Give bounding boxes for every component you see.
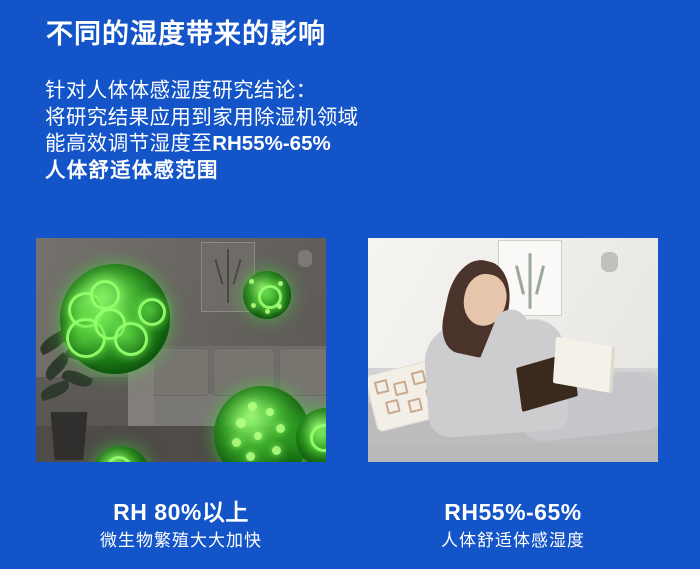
microbe-dot	[248, 402, 257, 411]
photo-panel-high-humidity	[36, 238, 326, 462]
floor	[368, 444, 658, 462]
microbe-dot	[249, 279, 254, 284]
caption-title: RH55%-65%	[368, 498, 658, 526]
microbe-cell	[114, 322, 148, 356]
dark-room-scene	[36, 238, 326, 462]
body-line-3: 能高效调节湿度至RH55%-65%	[45, 131, 475, 158]
body-line-3-highlight: RH55%-65%	[212, 132, 331, 155]
cactus-icon	[227, 249, 229, 303]
microbe-dot	[251, 303, 256, 308]
poster-root: 不同的湿度带来的影响 针对人体体感湿度研究结论： 将研究结果应用到家用除湿机领域…	[0, 0, 700, 569]
body-line-2: 将研究结果应用到家用除湿机领域	[45, 105, 475, 132]
leaf-icon	[39, 380, 72, 402]
microbe-dot	[272, 446, 281, 455]
photo-panel-comfort-humidity	[368, 238, 658, 462]
sofa-cushion	[279, 348, 326, 396]
microbe-sphere-large	[60, 264, 170, 374]
microbe-dot	[277, 304, 282, 309]
microbe-dot	[278, 281, 283, 286]
microbe-dot	[266, 408, 274, 416]
plant-pot	[48, 412, 90, 460]
microbe-cell	[90, 280, 120, 310]
page-title: 不同的湿度带来的影响	[46, 18, 326, 52]
microbe-cell	[138, 298, 166, 326]
microbe-dot	[246, 452, 255, 461]
caption-title: RH 80%以上	[36, 498, 326, 526]
microbe-sphere-medium	[243, 271, 291, 319]
caption-high-humidity: RH 80%以上 微生物繁殖大大加快	[36, 498, 326, 553]
wall-knob-icon	[601, 252, 618, 272]
body-line-1: 针对人体体感湿度研究结论：	[45, 78, 475, 105]
microbe-dot	[236, 418, 246, 428]
wall-knob-icon	[298, 250, 312, 267]
caption-subtitle: 微生物繁殖大大加快	[36, 529, 326, 553]
microbe-cell	[310, 424, 326, 452]
caption-subtitle: 人体舒适体感湿度	[368, 529, 658, 553]
bright-room-scene	[368, 238, 658, 462]
body-line-3-prefix: 能高效调节湿度至	[45, 132, 212, 155]
microbe-dot	[276, 424, 285, 433]
body-copy: 针对人体体感湿度研究结论： 将研究结果应用到家用除湿机领域 能高效调节湿度至RH…	[45, 78, 475, 184]
microbe-dot	[265, 309, 270, 314]
caption-comfort-humidity: RH55%-65% 人体舒适体感湿度	[368, 498, 658, 553]
microbe-dot	[254, 432, 262, 440]
body-line-4: 人体舒适体感范围	[45, 158, 475, 185]
microbe-cell	[106, 456, 132, 462]
microbe-dot	[232, 438, 241, 447]
cactus-icon	[529, 253, 532, 309]
